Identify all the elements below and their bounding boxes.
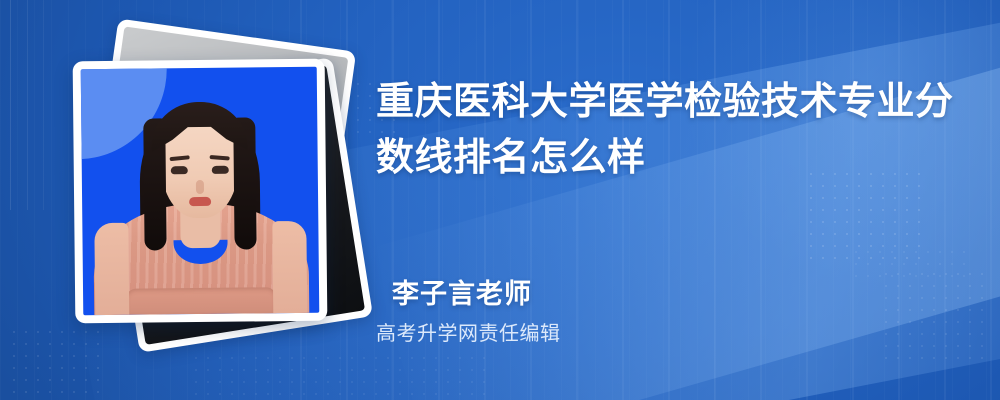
author-role: 高考升学网责任编辑 [376,317,561,346]
page-title: 重庆医科大学医学检验技术专业分 数线排名怎么样 [376,74,956,186]
author-name: 李子言老师 [392,272,532,311]
article-hero-banner: 重庆医科大学医学检验技术专业分 数线排名怎么样 李子言老师 高考升学网责任编辑 [0,0,1000,400]
author-photo-card [73,59,328,324]
photo-card-stack [52,34,352,354]
page-title-line-1: 重庆医科大学医学检验技术专业分 [376,74,956,130]
page-title-line-2: 数线排名怎么样 [376,130,956,186]
author-photo [81,67,320,315]
portrait-arm-right [272,221,307,313]
portrait-arm-left [94,223,129,315]
portrait-lips [189,197,211,206]
portrait-eye-left [171,166,188,174]
portrait-nose [196,180,204,194]
portrait-illustration [81,67,320,315]
banner-text-block: 重庆医科大学医学检验技术专业分 数线排名怎么样 李子言老师 高考升学网责任编辑 [376,0,976,400]
portrait-eye-right [212,166,229,174]
portrait-dress-band [126,287,276,315]
